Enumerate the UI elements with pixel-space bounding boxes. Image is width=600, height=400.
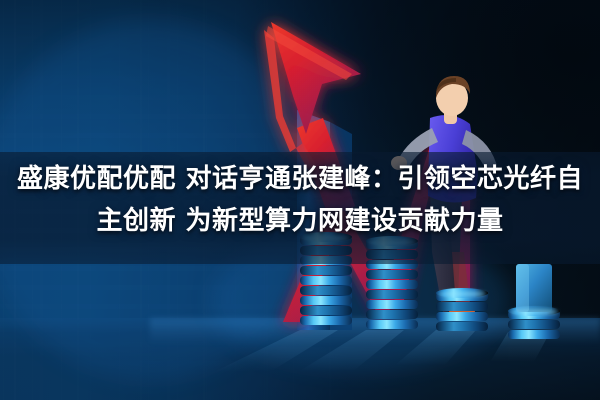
page-title: 盛康优配优配 对话亨通张建峰：引领空芯光纤自主创新 为新型算力网建设贡献力量 [16,158,584,242]
blue-card-on-stack [516,264,552,312]
banner-image: 盛康优配优配 对话亨通张建峰：引领空芯光纤自主创新 为新型算力网建设贡献力量 [0,0,600,400]
title-container: 盛康优配优配 对话亨通张建峰：引领空芯光纤自主创新 为新型算力网建设贡献力量 [0,158,600,242]
